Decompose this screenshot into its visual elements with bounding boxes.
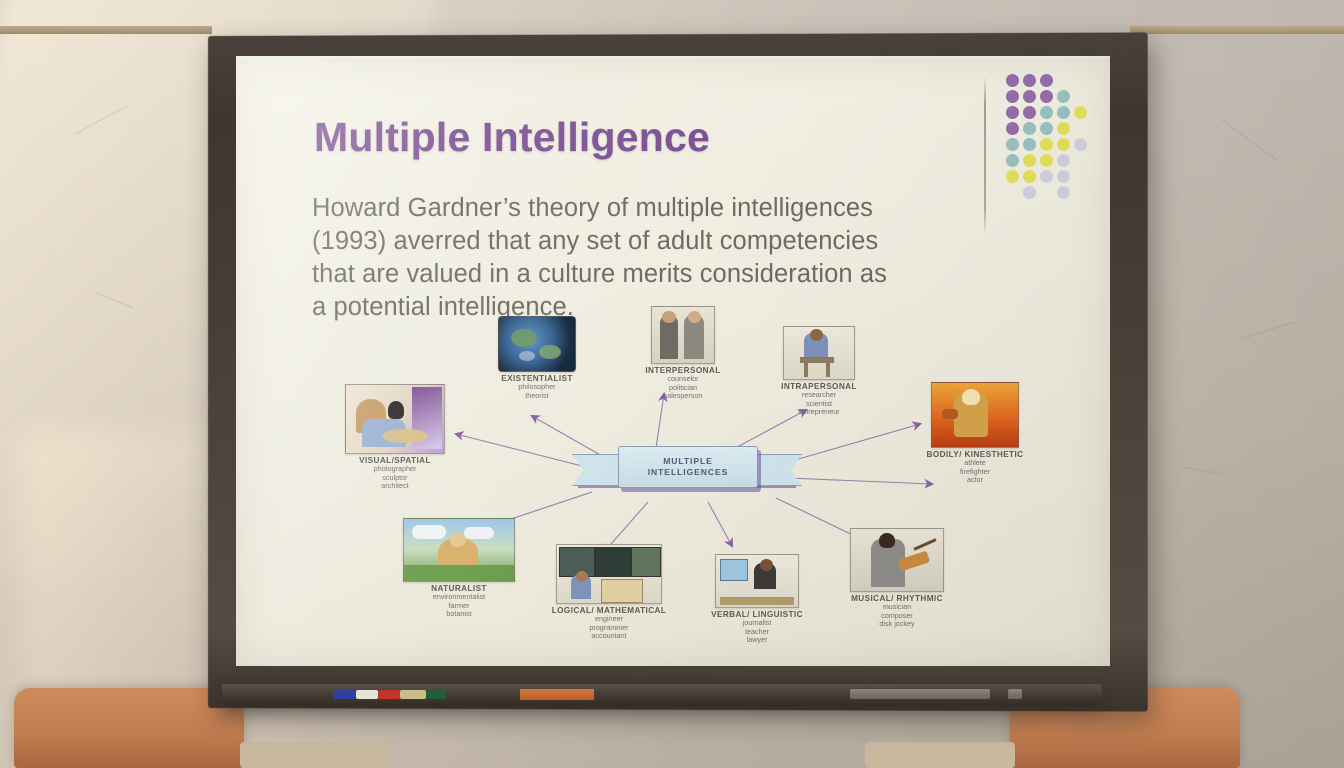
grid-dot	[1023, 154, 1036, 167]
wall-ledge-left	[0, 26, 212, 34]
grid-dot	[1023, 90, 1036, 103]
grid-dot	[1040, 170, 1053, 183]
node-sub-3: lawyer	[698, 636, 816, 644]
wall-scuff	[96, 293, 133, 309]
node-intrapersonal: INTRAPERSONAL researcher scientist entre…	[760, 326, 878, 417]
grid-dot	[1006, 106, 1019, 119]
wall-scuff	[1241, 322, 1294, 340]
banner-line-2: INTELLIGENCES	[648, 467, 728, 478]
node-sub-3: botanist	[394, 610, 524, 618]
grid-dot	[1057, 106, 1070, 119]
node-musical-rhythmic: MUSICAL/ RHYTHMIC musician composer disk…	[838, 528, 956, 629]
orange-eraser[interactable]	[520, 689, 594, 700]
tan-marker[interactable]	[400, 690, 426, 699]
node-logical-mathematical: LOGICAL/ MATHEMATICAL engineer programme…	[544, 544, 674, 641]
body-paragraph: Howard Gardner’s theory of multiple inte…	[312, 192, 902, 325]
node-image-bodily-kinesthetic	[931, 382, 1019, 448]
grid-dot	[1040, 106, 1053, 119]
grid-dot	[1023, 74, 1036, 87]
wall-scuff	[1180, 466, 1224, 475]
node-sub-3: accountant	[544, 632, 674, 640]
grid-dot	[1006, 154, 1019, 167]
grid-dot	[1006, 138, 1019, 151]
wall-scuff	[1221, 120, 1278, 162]
wall-scuff	[73, 106, 126, 135]
wall-ledge-right	[1130, 26, 1344, 34]
vertical-divider	[984, 76, 986, 236]
grid-dot	[1006, 170, 1019, 183]
grid-dot	[1057, 154, 1070, 167]
page-title: Multiple Intelligence	[314, 114, 710, 161]
node-image-intrapersonal	[783, 326, 855, 380]
node-sub-3: architect	[336, 482, 454, 490]
grid-dot	[1023, 186, 1036, 199]
grid-dot	[1023, 122, 1036, 135]
node-image-visual-spatial	[345, 384, 445, 454]
node-image-existentialist	[498, 316, 576, 372]
chair-left-seat	[240, 742, 390, 768]
grid-dot	[1023, 106, 1036, 119]
node-visual-spatial: VISUAL/SPATIAL photographer sculptor arc…	[336, 384, 454, 491]
node-interpersonal: INTERPERSONAL counselor politician sales…	[624, 306, 742, 401]
grid-dot	[1023, 170, 1036, 183]
node-image-naturalist	[403, 518, 515, 582]
chair-right-seat	[865, 742, 1015, 768]
whiteboard-surface: Multiple Intelligence Howard Gardner’s t…	[236, 56, 1110, 666]
node-sub-2: theorist	[478, 392, 596, 400]
node-bodily-kinesthetic: BODILY/ KINESTHETIC athlete firefighter …	[916, 382, 1034, 485]
grid-dot	[1057, 170, 1070, 183]
grid-dot	[1006, 90, 1019, 103]
banner-plate: MULTIPLE INTELLIGENCES	[618, 446, 758, 488]
grid-dot	[1040, 138, 1053, 151]
node-existentialist: EXISTENTIALIST philosopher theorist	[478, 316, 596, 400]
node-sub-3: entrepreneur	[760, 408, 878, 416]
green-marker[interactable]	[426, 690, 446, 699]
blue-marker[interactable]	[334, 690, 356, 699]
grid-dot	[1040, 90, 1053, 103]
grid-dot	[1057, 90, 1070, 103]
grid-dot	[1006, 122, 1019, 135]
node-image-logical-mathematical	[556, 544, 662, 604]
center-banner: MULTIPLE INTELLIGENCES	[572, 446, 802, 492]
node-sub-3: actor	[916, 476, 1034, 484]
node-sub-3: salesperson	[624, 392, 742, 400]
node-naturalist: NATURALIST environmentalist farmer botan…	[394, 518, 524, 619]
grid-dot	[1057, 138, 1070, 151]
grid-dot	[1040, 154, 1053, 167]
grid-dot	[1057, 122, 1070, 135]
grid-dot	[1040, 122, 1053, 135]
grid-dot	[1006, 74, 1019, 87]
node-sub-3: disk jockey	[838, 620, 956, 628]
grid-dot	[1074, 138, 1087, 151]
white-marker[interactable]	[356, 690, 378, 699]
whiteboard: Multiple Intelligence Howard Gardner’s t…	[208, 36, 1138, 708]
node-image-musical-rhythmic	[850, 528, 944, 592]
grey-eraser[interactable]	[850, 689, 990, 699]
grid-dot	[1074, 106, 1087, 119]
banner-line-1: MULTIPLE	[663, 456, 713, 467]
grid-dot	[1057, 186, 1070, 199]
tray-clip[interactable]	[1008, 689, 1022, 699]
node-image-interpersonal	[651, 306, 715, 364]
projected-slide: Multiple Intelligence Howard Gardner’s t…	[236, 56, 1110, 666]
red-marker[interactable]	[378, 690, 400, 699]
multiple-intelligences-diagram: MULTIPLE INTELLIGENCES VISUAL/SPATIAL	[336, 306, 1036, 651]
grid-dot	[1040, 74, 1053, 87]
node-image-verbal-linguistic	[715, 554, 799, 608]
decorative-dot-grid	[1006, 74, 1106, 214]
node-verbal-linguistic: VERBAL/ LINGUISTIC journalist teacher la…	[698, 554, 816, 645]
marker-tray	[222, 684, 1102, 706]
grid-dot	[1023, 138, 1036, 151]
